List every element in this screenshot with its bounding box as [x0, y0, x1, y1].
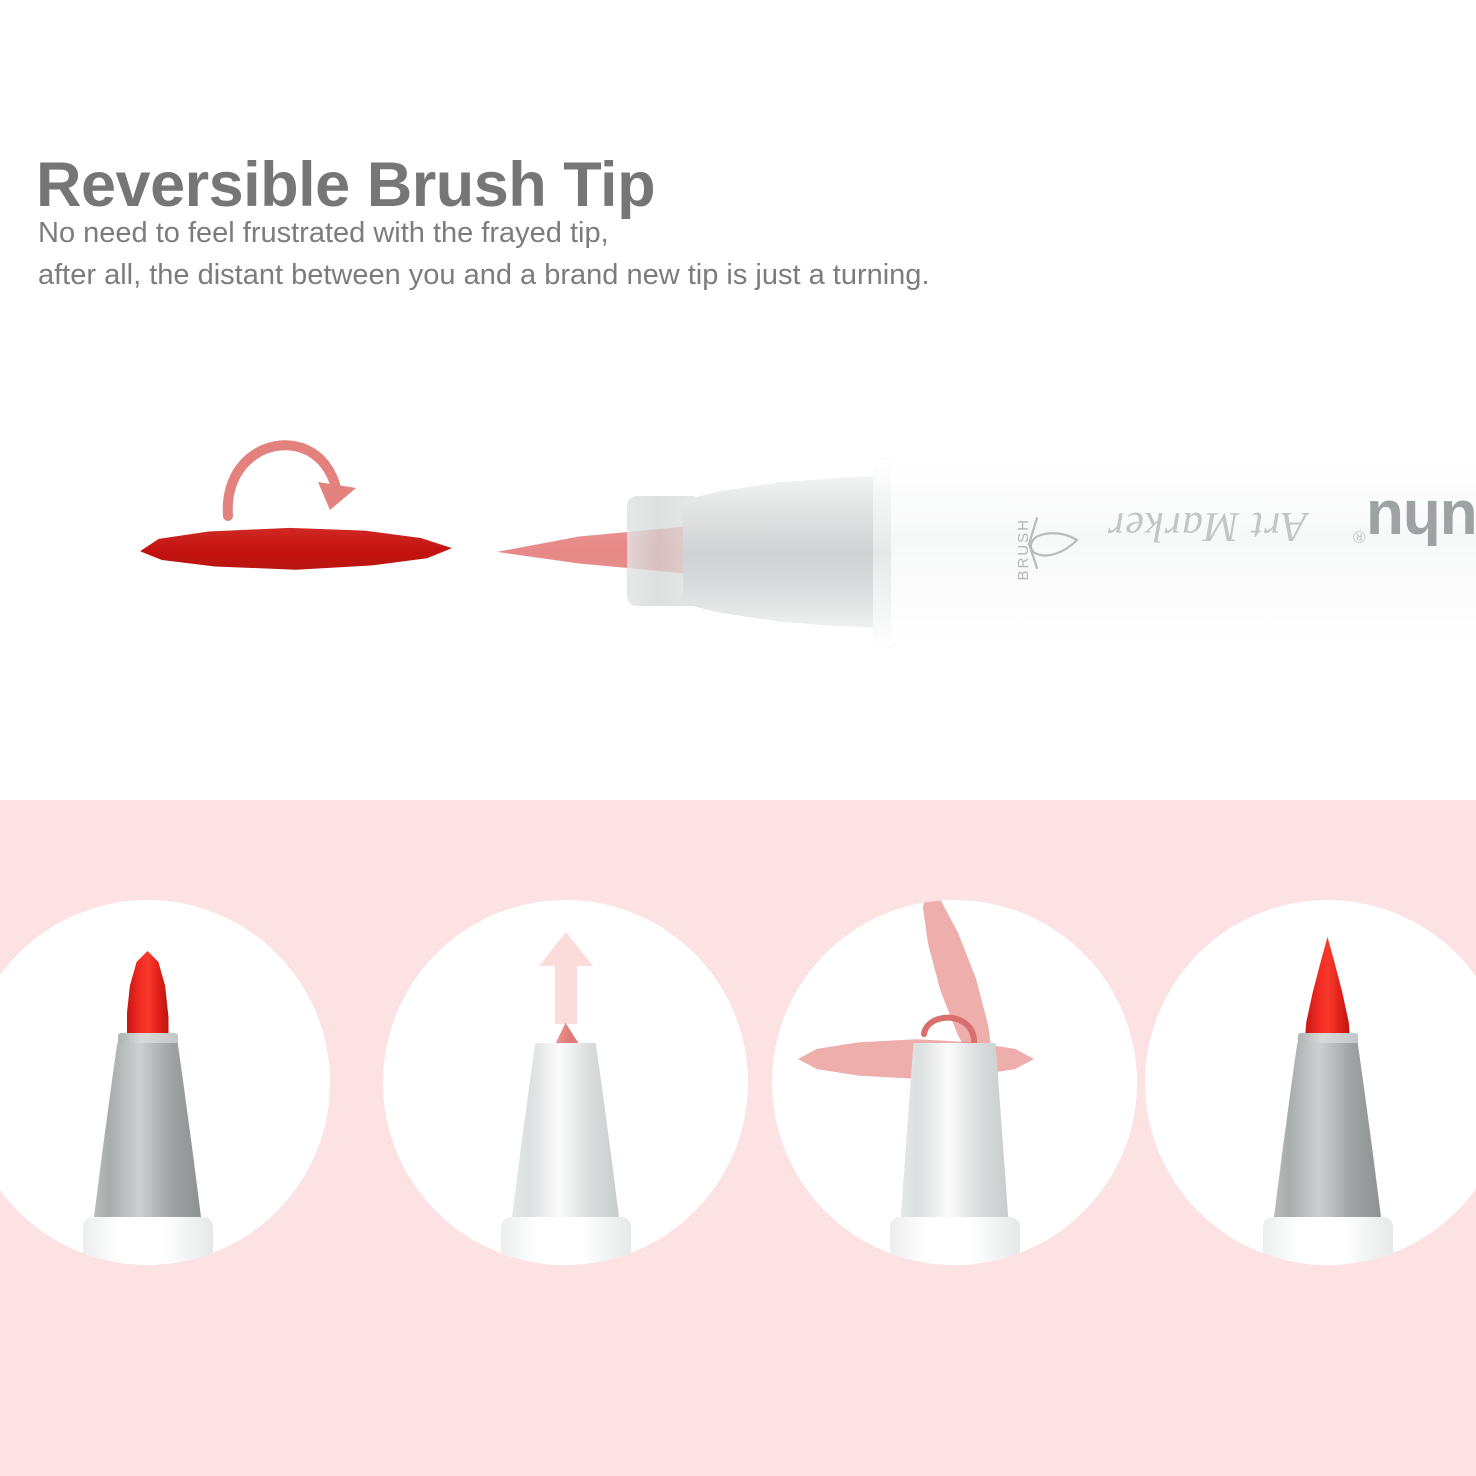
brand-name-print: nuhu	[1367, 486, 1476, 557]
grey-nib-cone	[1274, 1043, 1382, 1221]
pen-barrel-base	[1263, 1217, 1393, 1265]
hero-section: Reversible Brush Tip No need to feel fru…	[0, 0, 1476, 800]
grey-nib-cone	[901, 1043, 1009, 1221]
pen-barrel-base	[890, 1217, 1020, 1265]
barrel-highlight	[891, 456, 1476, 478]
step-3-flip-tip	[772, 900, 1137, 1265]
subtitle-line-2: after all, the distant between you and a…	[38, 254, 930, 296]
page-subtitle: No need to feel frustrated with the fray…	[38, 212, 930, 296]
up-arrow-icon	[539, 932, 593, 1024]
rotate-arrow-icon	[218, 430, 358, 522]
pen-barrel-base	[83, 1217, 213, 1265]
step-2-pull-tip-out	[383, 900, 748, 1265]
product-name-print: Art Marker	[1107, 502, 1307, 550]
red-brush-tip	[127, 951, 169, 1043]
page-title: Reversible Brush Tip	[36, 152, 655, 218]
step-1-tip-installed	[0, 900, 330, 1265]
grey-nib-cone	[512, 1043, 620, 1221]
steps-section	[0, 800, 1476, 1476]
step-4-fresh-tip-installed	[1145, 900, 1476, 1265]
detached-brush-tip	[140, 526, 452, 572]
brush-label: BRUSH	[1015, 518, 1032, 581]
registered-trademark-icon: ®	[1353, 526, 1366, 546]
product-infographic: Reversible Brush Tip No need to feel fru…	[0, 0, 1476, 1476]
red-brush-tip-sharp	[1305, 937, 1351, 1043]
art-marker-pen: BRUSH Art Marker nuhu ®	[495, 440, 1476, 660]
pen-barrel-base	[501, 1217, 631, 1265]
subtitle-line-1: No need to feel frustrated with the fray…	[38, 212, 930, 254]
nib-cone	[683, 476, 888, 628]
grey-nib-cone	[94, 1043, 202, 1221]
